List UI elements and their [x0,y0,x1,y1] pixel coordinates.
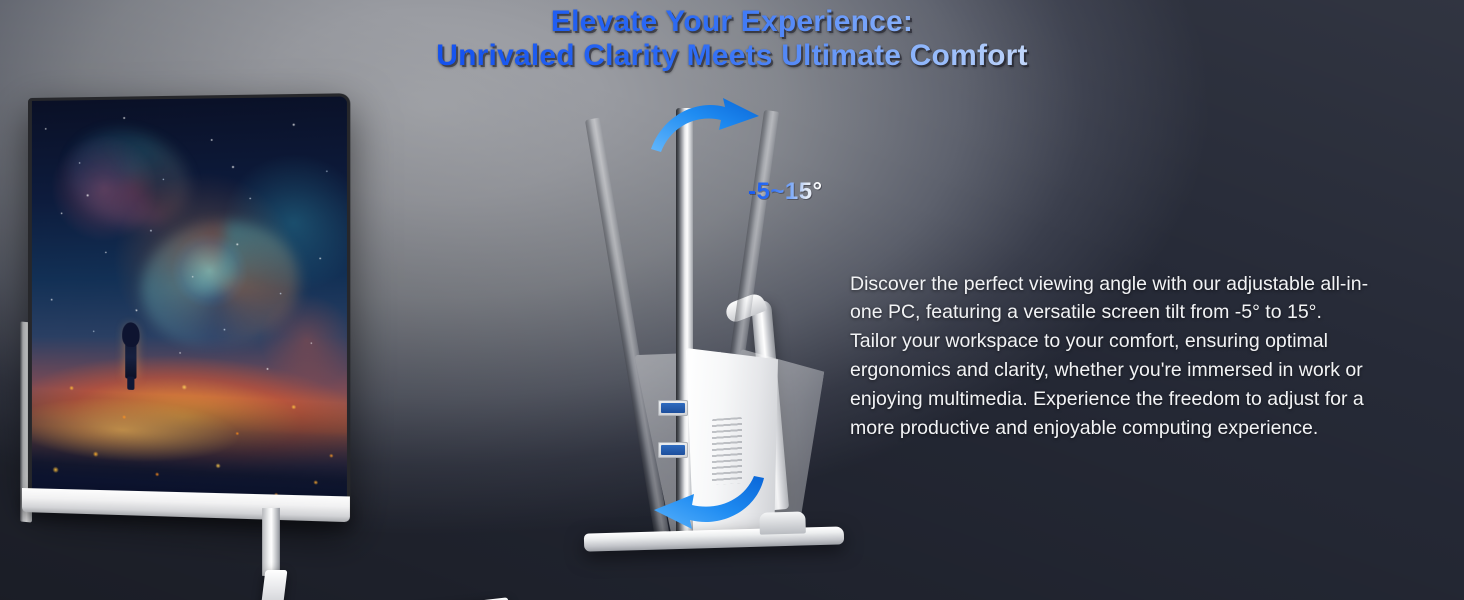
banner-stage: Elevate Your Experience: Unrivaled Clari… [0,0,1464,600]
usb-port-lower [658,442,688,458]
monitor-stand-neck [262,508,280,576]
tilt-arrow-down-icon [650,470,770,537]
curved-monitor-front-view [8,90,338,510]
base-leg-rear [259,570,288,600]
description-paragraph: Discover the perfect viewing angle with … [850,270,1370,443]
usb-port-cluster [658,400,692,474]
banner-title: Elevate Your Experience: Unrivaled Clari… [0,5,1464,72]
tilt-angle-label: -5~15° [748,178,823,206]
tilt-arrow-up-icon [645,95,765,162]
usb-port-upper [658,400,688,416]
monitor-screen [28,93,350,522]
monitor-tripod-base [158,568,510,600]
title-line-1: Elevate Your Experience: [0,5,1464,39]
title-line-2: Unrivaled Clarity Meets Ultimate Comfort [0,39,1464,73]
wallpaper-figure-silhouette [125,325,136,379]
